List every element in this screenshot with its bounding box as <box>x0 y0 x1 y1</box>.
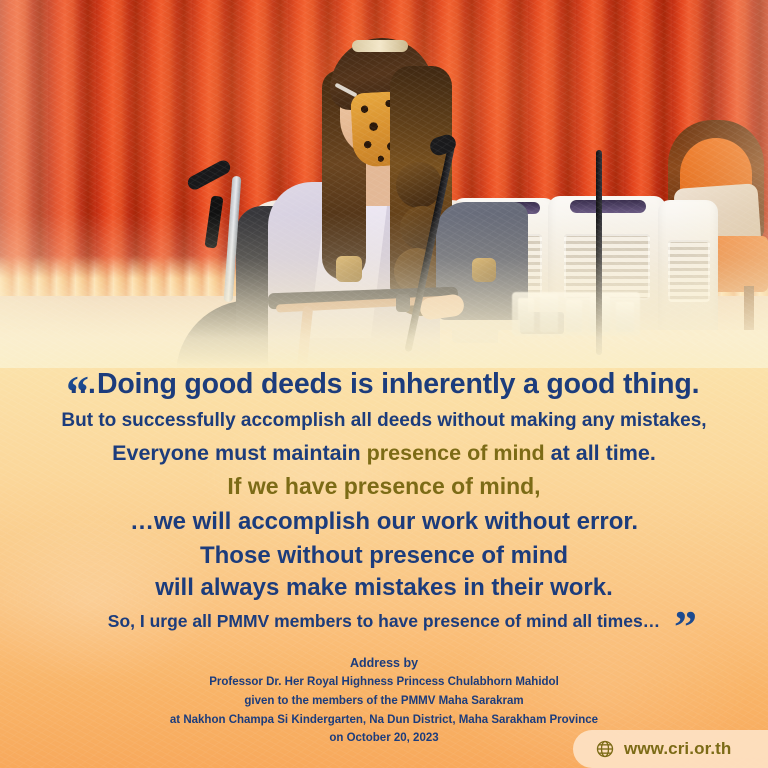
attribution-audience: given to the members of the PMMV Maha Sa… <box>0 692 768 711</box>
attribution-venue: at Nakhon Champa Si Kindergarten, Na Dun… <box>0 711 768 730</box>
ac-grille <box>668 240 710 302</box>
globe-icon <box>595 739 615 759</box>
wristwatch <box>396 294 410 312</box>
quote-line-2: But to successfully accomplish all deeds… <box>0 410 768 432</box>
quote-line-3: Everyone must maintain presence of mind … <box>0 441 768 466</box>
leopard-figurine-right <box>472 258 496 282</box>
attribution-heading: Address by <box>0 654 768 673</box>
ac-grille <box>564 234 650 300</box>
chair-leg-right <box>744 286 754 330</box>
glass <box>566 300 582 332</box>
glass <box>540 294 558 332</box>
quote-line-5: …we will accomplish our work without err… <box>0 508 768 536</box>
air-conditioner-unit-3 <box>658 200 718 342</box>
website-url: www.cri.or.th <box>624 739 731 759</box>
quote-line-8: So, I urge all PMMV members to have pres… <box>0 611 768 632</box>
quotation-block: …Doing good deeds is inherently a good t… <box>0 362 768 632</box>
ac-vent-top <box>570 200 646 213</box>
microphone-stand-pole <box>596 150 602 355</box>
leopard-figurine-left <box>336 256 362 282</box>
glass <box>518 298 534 332</box>
tiara-headband <box>352 40 408 52</box>
quote-line-7: will always make mistakes in their work. <box>0 574 768 602</box>
quote-line-6: Those without presence of mind <box>0 542 768 570</box>
quote-emphasis-presence-of-mind: presence of mind <box>367 441 545 465</box>
quote-line-4: If we have presence of mind, <box>0 473 768 500</box>
quote-line-3-part-a: Everyone must maintain <box>112 441 367 465</box>
quote-line-1: …Doing good deeds is inherently a good t… <box>0 362 768 402</box>
speech-photograph <box>0 0 768 368</box>
glassware-set <box>512 292 640 336</box>
glass <box>616 302 634 332</box>
quote-line-3-part-c: at all time. <box>545 441 656 465</box>
website-badge[interactable]: www.cri.or.th <box>573 730 768 768</box>
attribution-speaker: Professor Dr. Her Royal Highness Princes… <box>0 673 768 692</box>
quote-card: …Doing good deeds is inherently a good t… <box>0 0 768 768</box>
